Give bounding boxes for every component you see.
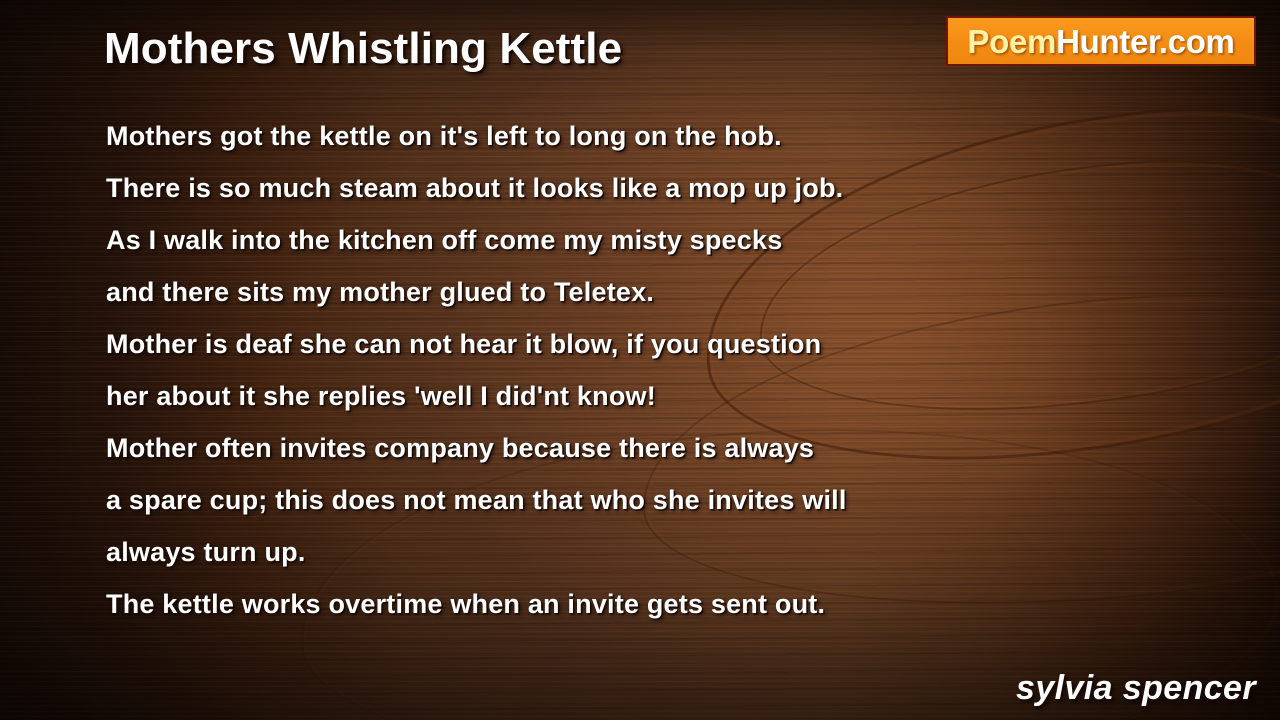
poem-line: As I walk into the kitchen off come my m… — [106, 214, 1206, 266]
poem-line: There is so much steam about it looks li… — [106, 162, 1206, 214]
poem-line: Mother often invites company because the… — [106, 422, 1206, 474]
poem-body: Mothers got the kettle on it's left to l… — [106, 110, 1206, 630]
poem-line: a spare cup; this does not mean that who… — [106, 474, 1206, 526]
poem-image-canvas: Mothers Whistling Kettle PoemHunter.com … — [0, 0, 1280, 720]
poem-line: always turn up. — [106, 526, 1206, 578]
poem-line: Mothers got the kettle on it's left to l… — [106, 110, 1206, 162]
poem-title: Mothers Whistling Kettle — [104, 24, 622, 74]
poemhunter-logo-text: PoemHunter.com — [967, 25, 1234, 58]
logo-word-poem: Poem — [967, 23, 1056, 60]
poem-line: Mother is deaf she can not hear it blow,… — [106, 318, 1206, 370]
poem-line: The kettle works overtime when an invite… — [106, 578, 1206, 630]
poemhunter-logo-badge[interactable]: PoemHunter.com — [946, 16, 1256, 66]
poem-line: and there sits my mother glued to Telete… — [106, 266, 1206, 318]
content-layer: Mothers Whistling Kettle PoemHunter.com … — [0, 0, 1280, 720]
author-byline: sylvia spencer — [1016, 669, 1256, 708]
logo-word-huntercom: Hunter.com — [1056, 23, 1235, 60]
poem-line: her about it she replies 'well I did'nt … — [106, 370, 1206, 422]
